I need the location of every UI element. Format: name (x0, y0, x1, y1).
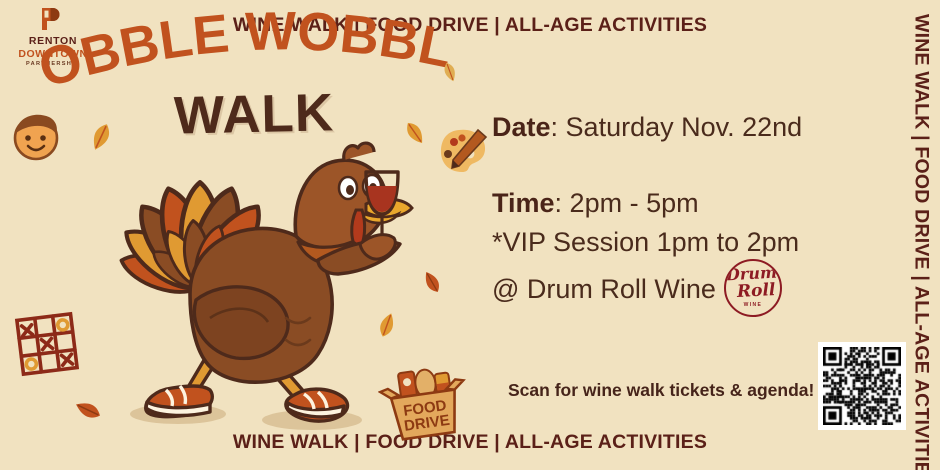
autumn-leaf-icon (418, 268, 446, 301)
banner-right: WINE WALK | FOOD DRIVE | ALL-AGE ACTIVIT… (902, 0, 940, 470)
venue-text: @ Drum Roll Wine (492, 270, 716, 308)
date-label: Date (492, 112, 551, 142)
date-line: Date: Saturday Nov. 22nd (492, 108, 892, 146)
date-separator: : (551, 112, 566, 142)
tic-tac-toe-icon (8, 305, 86, 383)
venue-line: @ Drum Roll Wine Drum Roll WINE (492, 261, 892, 317)
drumroll-word-wine: WINE (744, 302, 763, 309)
time-label: Time (492, 188, 555, 218)
vip-session-line: *VIP Session 1pm to 2pm (492, 223, 892, 261)
qr-code-canvas[interactable] (823, 347, 901, 425)
event-details: Date: Saturday Nov. 22nd Time: 2pm - 5pm… (492, 108, 892, 317)
autumn-leaf-icon (372, 310, 402, 345)
wine-glass-icon (352, 162, 412, 254)
time-value: 2pm - 5pm (570, 188, 699, 218)
headline-group: GOBBLE WOBBLE WALK (34, 22, 454, 132)
banner-right-text: WINE WALK | FOOD DRIVE | ALL-AGE ACTIVIT… (910, 14, 933, 470)
qr-code-icon[interactable] (818, 342, 906, 430)
event-flyer: WINE WALK | FOOD DRIVE | ALL-AGE ACTIVIT… (0, 0, 940, 470)
autumn-leaf-icon (72, 394, 104, 431)
drum-roll-wine-logo: Drum Roll WINE (724, 259, 782, 317)
drumroll-word-roll: Roll (736, 282, 775, 301)
time-line: Time: 2pm - 5pm (492, 184, 892, 222)
autumn-leaf-icon (400, 118, 430, 153)
scan-instruction-text: Scan for wine walk tickets & agenda! (508, 380, 814, 401)
autumn-leaf-icon (84, 120, 118, 159)
date-value: Saturday Nov. 22nd (566, 112, 803, 142)
time-separator: : (555, 188, 570, 218)
autumn-leaf-icon (438, 60, 462, 89)
art-palette-icon (432, 118, 494, 180)
child-face-icon (5, 105, 67, 167)
food-drive-box-icon: FOOD DRIVE (378, 356, 470, 448)
